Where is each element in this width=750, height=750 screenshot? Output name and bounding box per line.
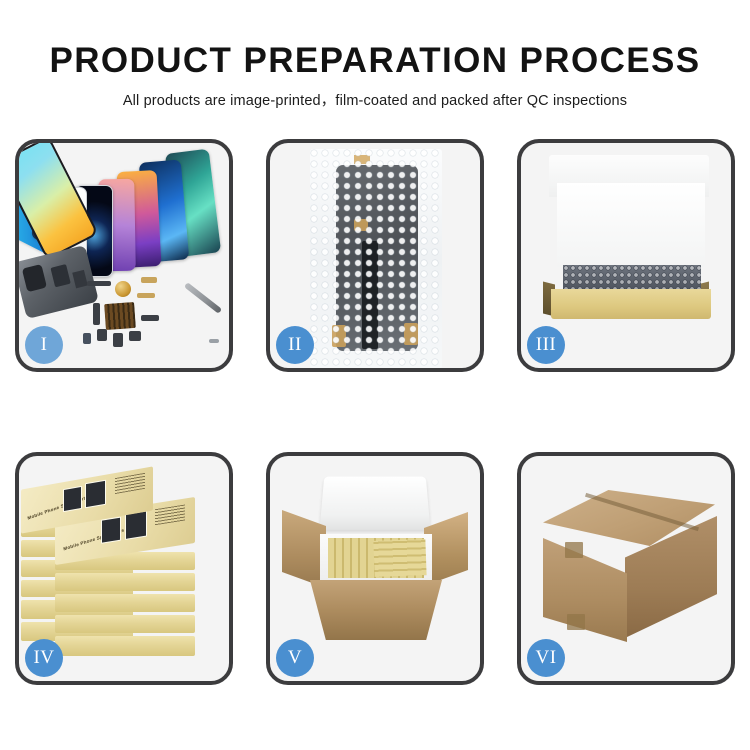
gold-component-image bbox=[115, 281, 131, 297]
header: PRODUCT PREPARATION PROCESS All products… bbox=[0, 40, 750, 110]
box-print-lines bbox=[155, 504, 185, 525]
carton-tape-image bbox=[567, 614, 585, 630]
stacked-box bbox=[55, 573, 195, 591]
box-window bbox=[85, 480, 106, 509]
box-window bbox=[101, 517, 121, 544]
screw-image bbox=[209, 339, 219, 343]
stacked-box bbox=[55, 594, 195, 612]
spare-part-image bbox=[87, 281, 111, 286]
step-badge-6: VI bbox=[527, 639, 565, 677]
step-badge-1: I bbox=[25, 326, 63, 364]
process-step-6: VI bbox=[517, 452, 735, 685]
step-numeral: IV bbox=[33, 647, 54, 669]
step-numeral: III bbox=[536, 334, 556, 356]
spare-part-image bbox=[83, 333, 91, 344]
step-numeral: II bbox=[288, 334, 302, 356]
spare-part-image bbox=[141, 277, 157, 283]
process-step-3: III bbox=[517, 139, 735, 372]
stacked-box bbox=[55, 615, 195, 633]
box-print-lines bbox=[115, 473, 145, 494]
spare-part-image bbox=[129, 331, 141, 341]
stacked-box bbox=[55, 636, 195, 656]
box-window bbox=[63, 486, 82, 512]
kraft-box-front-image bbox=[551, 289, 711, 319]
process-step-5: V bbox=[266, 452, 484, 685]
bubble-texture bbox=[310, 149, 442, 368]
step-badge-2: II bbox=[276, 326, 314, 364]
step-numeral: V bbox=[288, 647, 302, 669]
kraft-boxes-inside-image bbox=[373, 539, 426, 577]
foam-lid-image bbox=[320, 476, 431, 529]
step-badge-5: V bbox=[276, 639, 314, 677]
spare-part-image bbox=[93, 303, 100, 325]
carton-body-image bbox=[310, 580, 442, 640]
carton-tape-image bbox=[565, 542, 583, 558]
bubble-wrap-bag-image bbox=[310, 149, 442, 368]
page-subtitle: All products are image-printed，film-coat… bbox=[0, 89, 750, 110]
product-preparation-infographic: PRODUCT PREPARATION PROCESS All products… bbox=[0, 0, 750, 750]
foam-liner-image bbox=[557, 183, 705, 267]
spare-part-image bbox=[113, 333, 123, 347]
step-numeral: VI bbox=[535, 647, 556, 669]
step-badge-4: IV bbox=[25, 639, 63, 677]
process-step-4: Mobile Phone Spare Parts Mobile Phone Sp… bbox=[15, 452, 233, 685]
step-numeral: I bbox=[41, 334, 48, 356]
spare-part-image bbox=[137, 293, 155, 298]
box-window bbox=[125, 511, 147, 540]
screwdriver-image bbox=[184, 282, 222, 314]
process-step-grid: I II bbox=[15, 139, 735, 685]
step-badge-3: III bbox=[527, 326, 565, 364]
screw-grid-image bbox=[104, 302, 136, 330]
carton-left-face-image bbox=[543, 538, 627, 642]
process-step-1: I bbox=[15, 139, 233, 372]
spare-part-image bbox=[97, 329, 107, 341]
spare-part-image bbox=[141, 315, 159, 321]
page-title: PRODUCT PREPARATION PROCESS bbox=[0, 40, 750, 82]
process-step-2: II bbox=[266, 139, 484, 372]
